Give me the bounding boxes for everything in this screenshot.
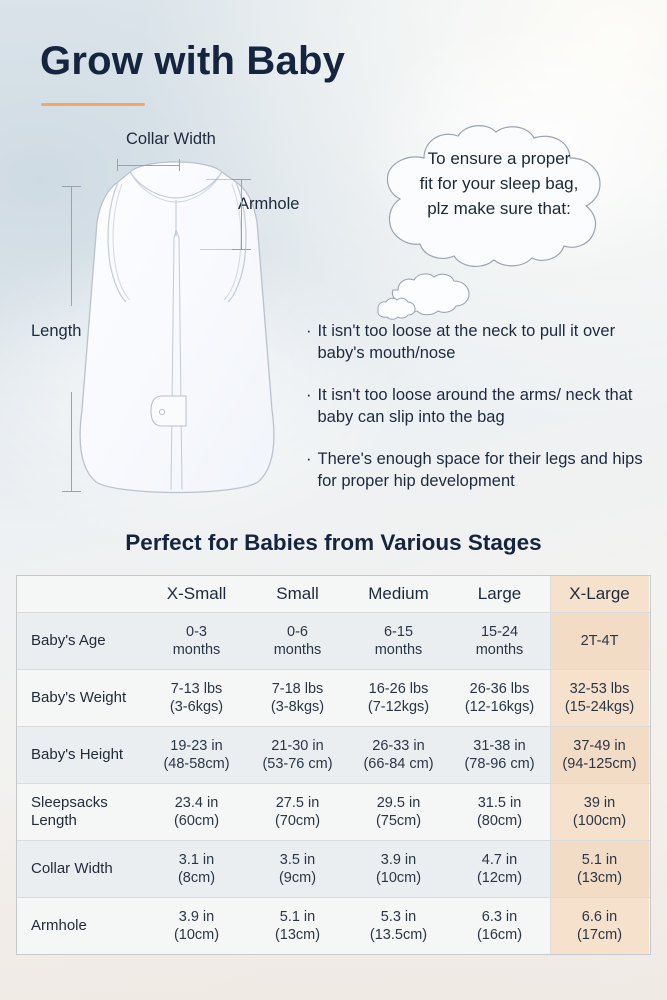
table-cell: 19-23 in(48-58cm) [146,727,247,783]
table-header-row: X-SmallSmallMediumLargeX-Large [17,576,650,612]
table-cell: 26-33 in(66-84 cm) [348,727,449,783]
table-cell: 6-15months [348,613,449,669]
table-cell: 0-3months [146,613,247,669]
checklist-item: ·It isn't too loose at the neck to pull … [306,320,656,364]
table-cell: 37-49 in(94-125cm) [550,727,649,783]
table-row-label: SleepsacksLength [17,784,146,840]
table-row-label: Baby's Weight [17,670,146,726]
table-cell: 5.3 in(13.5cm) [348,898,449,954]
armhole-dimension-line [241,179,242,250]
collar-width-cap-right [179,159,180,171]
checklist-item-label: It isn't too loose around the arms/ neck… [318,384,657,428]
table-cell: 6.6 in(17cm) [550,898,649,954]
bullet-marker: · [306,384,312,428]
table-cell: 3.9 in(10cm) [146,898,247,954]
bullet-marker: · [306,320,312,364]
table-column-header: Large [449,576,550,612]
collar-width-cap-left [117,159,118,171]
callout-line-2: fit for your sleep bag, [392,171,606,196]
table-cell: 5.1 in(13cm) [550,841,649,897]
table-cell: 21-30 in(53-76 cm) [247,727,348,783]
table-cell: 23.4 in(60cm) [146,784,247,840]
checklist-item-label: There's enough space for their legs and … [318,448,657,492]
table-row-label: Collar Width [17,841,146,897]
callout-cloud-text: To ensure a proper fit for your sleep ba… [392,146,606,221]
table-row: Baby's Weight7-13 lbs(3-6kgs)7-18 lbs(3-… [17,669,650,726]
table-column-header [17,576,146,612]
table-cell: 7-13 lbs(3-6kgs) [146,670,247,726]
table-cell: 0-6months [247,613,348,669]
size-chart-table: X-SmallSmallMediumLargeX-LargeBaby's Age… [16,575,651,955]
table-cell: 3.1 in(8cm) [146,841,247,897]
length-cap-bottom [62,491,81,492]
table-cell: 39 in(100cm) [550,784,649,840]
table-cell: 6.3 in(16cm) [449,898,550,954]
table-column-header: X-Large [550,576,649,612]
armhole-leader-bottom [200,249,242,250]
collar-width-dimension-line [117,165,180,166]
table-row: Armhole3.9 in(10cm)5.1 in(13cm)5.3 in(13… [17,897,650,954]
highlight-column-edge [550,841,551,897]
table-section-title: Perfect for Babies from Various Stages [0,530,667,556]
highlight-column-edge [550,576,551,612]
table-column-header: Small [247,576,348,612]
page-title: Grow with Baby [40,39,345,84]
length-cap-top [62,186,81,187]
table-row-label: Armhole [17,898,146,954]
bullet-marker: · [306,448,312,492]
callout-line-3: plz make sure that: [392,196,606,221]
length-dimension-line-upper [71,186,72,306]
table-column-header: Medium [348,576,449,612]
table-row: Baby's Age0-3months0-6months6-15months15… [17,612,650,669]
table-cell: 27.5 in(70cm) [247,784,348,840]
title-underline [41,103,145,106]
checklist-item-label: It isn't too loose at the neck to pull i… [318,320,657,364]
checklist-item: ·There's enough space for their legs and… [306,448,656,492]
table-column-header: X-Small [146,576,247,612]
highlight-column-edge [550,898,551,954]
table-cell: 29.5 in(75cm) [348,784,449,840]
highlight-column-edge [550,613,551,669]
label-length: Length [31,322,81,341]
highlight-column-edge [550,784,551,840]
table-cell: 16-26 lbs(7-12kgs) [348,670,449,726]
checklist-item: ·It isn't too loose around the arms/ nec… [306,384,656,428]
table-cell: 7-18 lbs(3-8kgs) [247,670,348,726]
length-dimension-line-lower [71,392,72,492]
table-cell: 4.7 in(12cm) [449,841,550,897]
armhole-leader-top [206,179,242,180]
table-cell: 3.9 in(10cm) [348,841,449,897]
highlight-column-edge [550,670,551,726]
table-cell: 31.5 in(80cm) [449,784,550,840]
table-cell: 15-24months [449,613,550,669]
table-row: Collar Width3.1 in(8cm)3.5 in(9cm)3.9 in… [17,840,650,897]
table-row-label: Baby's Height [17,727,146,783]
table-cell: 3.5 in(9cm) [247,841,348,897]
label-armhole: Armhole [238,195,299,214]
table-cell: 5.1 in(13cm) [247,898,348,954]
highlight-column-edge [550,727,551,783]
table-row: SleepsacksLength23.4 in(60cm)27.5 in(70c… [17,783,650,840]
table-cell: 26-36 lbs(12-16kgs) [449,670,550,726]
fit-checklist: ·It isn't too loose at the neck to pull … [306,320,656,512]
table-cell: 32-53 lbs(15-24kgs) [550,670,649,726]
table-row: Baby's Height19-23 in(48-58cm)21-30 in(5… [17,726,650,783]
table-cell: 31-38 in(78-96 cm) [449,727,550,783]
callout-line-1: To ensure a proper [392,146,606,171]
label-collar-width: Collar Width [126,130,216,149]
table-cell: 2T-4T [550,613,649,669]
table-row-label: Baby's Age [17,613,146,669]
